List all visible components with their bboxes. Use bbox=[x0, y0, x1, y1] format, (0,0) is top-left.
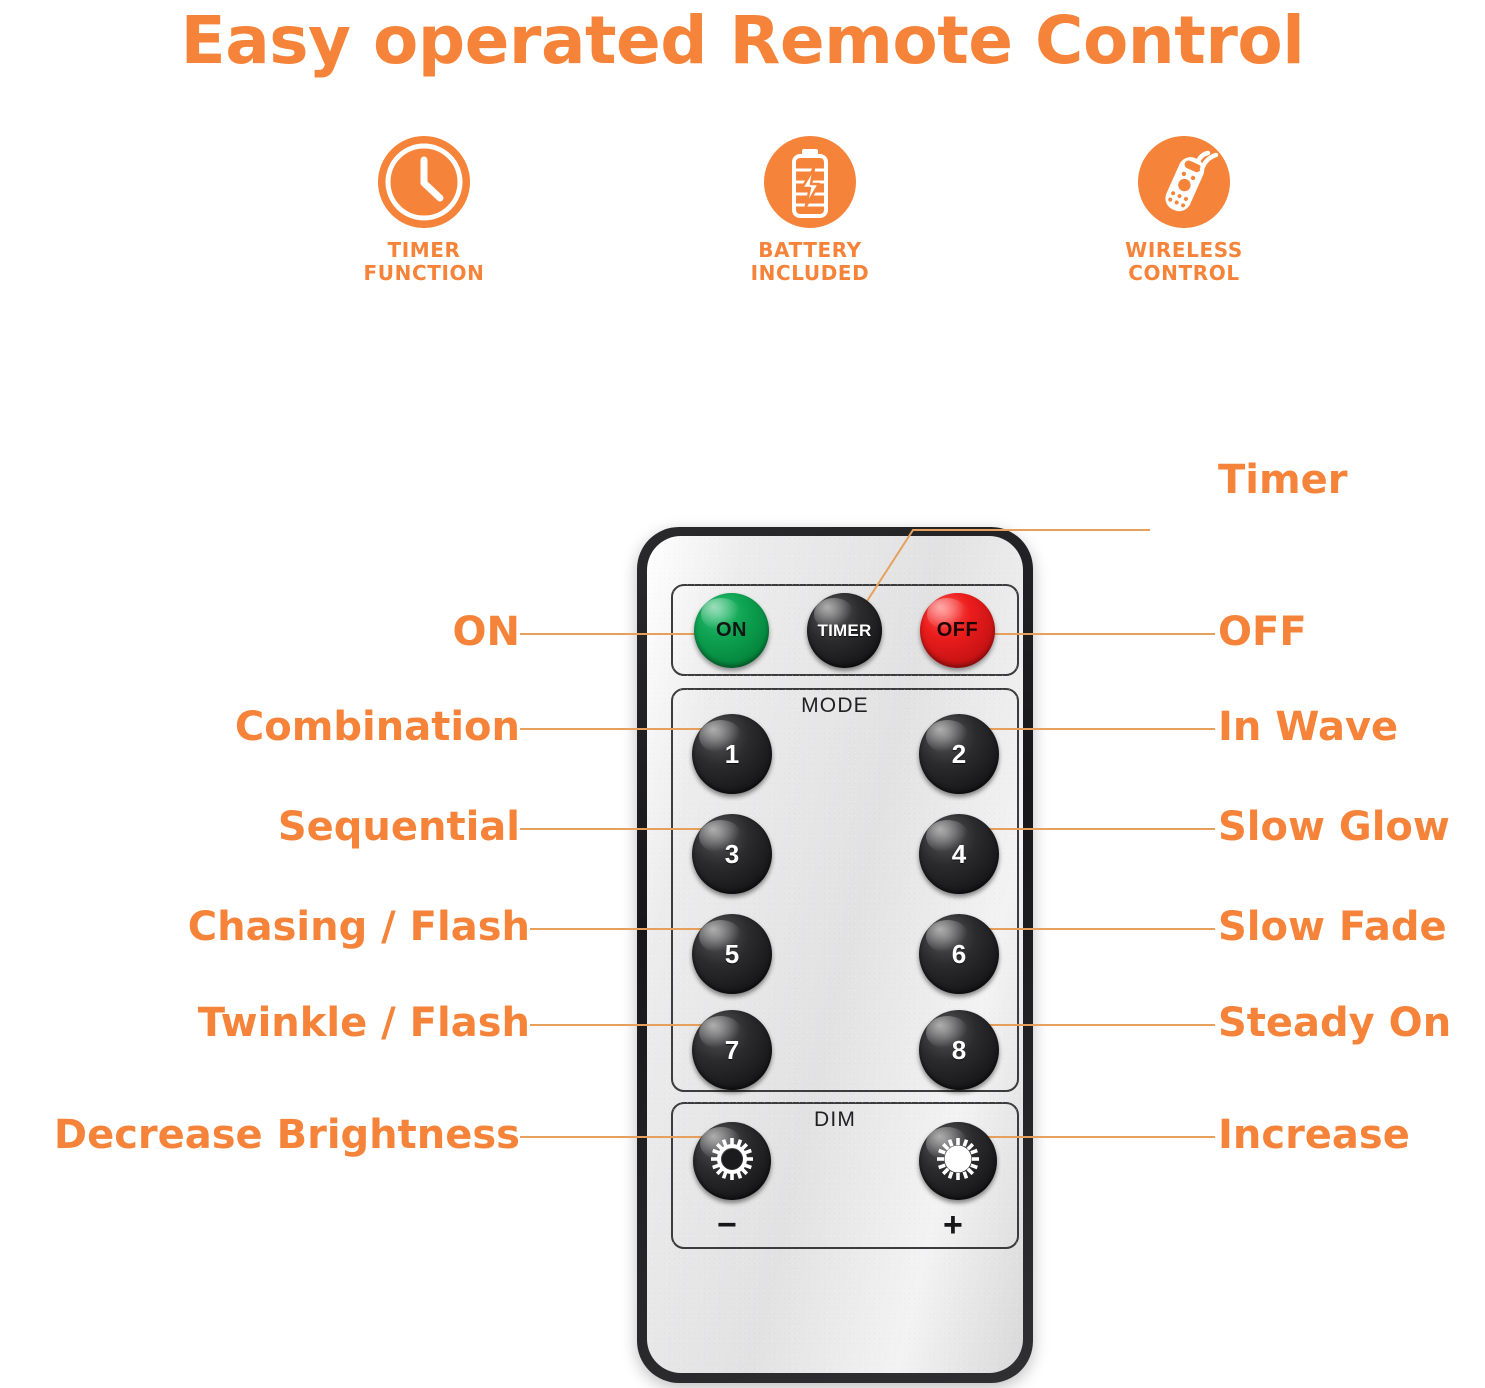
leader-line-twinkle bbox=[530, 1024, 725, 1026]
leader-line-combination bbox=[520, 728, 725, 730]
clock-icon bbox=[378, 136, 470, 228]
callout-twinkle-flash: Twinkle / Flash bbox=[100, 1003, 530, 1043]
callout-on: ON bbox=[120, 612, 520, 652]
feature-caption-line1: TIMER bbox=[304, 239, 544, 262]
off-button[interactable]: OFF bbox=[920, 593, 995, 668]
feature-caption-line1: WIRELESS bbox=[1064, 239, 1304, 262]
dim-decrease-sign: − bbox=[717, 1208, 737, 1242]
mode-button-1[interactable]: 1 bbox=[692, 714, 772, 794]
mode-button-label: 8 bbox=[952, 1035, 966, 1066]
mode-button-4[interactable]: 4 bbox=[919, 814, 999, 894]
callout-decrease-brightness: Decrease Brightness bbox=[10, 1115, 520, 1155]
mode-button-2[interactable]: 2 bbox=[919, 714, 999, 794]
leader-line-decrease bbox=[520, 1136, 725, 1138]
dim-decrease-button[interactable] bbox=[693, 1122, 771, 1200]
leader-line-chasing bbox=[530, 928, 725, 930]
mode-button-7[interactable]: 7 bbox=[692, 1010, 772, 1090]
feature-caption-line1: BATTERY bbox=[690, 239, 930, 262]
feature-caption-line2: CONTROL bbox=[1064, 262, 1304, 285]
mode-button-8[interactable]: 8 bbox=[919, 1010, 999, 1090]
mode-button-3[interactable]: 3 bbox=[692, 814, 772, 894]
mode-button-label: 7 bbox=[725, 1035, 739, 1066]
timer-button-label: TIMER bbox=[818, 621, 872, 641]
callout-timer: Timer bbox=[1218, 460, 1348, 500]
brightness-high-icon bbox=[933, 1134, 983, 1189]
feature-caption: TIMER FUNCTION bbox=[304, 239, 544, 285]
callout-off: OFF bbox=[1218, 612, 1307, 652]
feature-caption: BATTERY INCLUDED bbox=[690, 239, 930, 285]
mode-button-label: 3 bbox=[725, 839, 739, 870]
feature-caption-line2: FUNCTION bbox=[304, 262, 544, 285]
page-title: Easy operated Remote Control bbox=[0, 2, 1485, 79]
feature-badge-row: TIMER FUNCTION BATTERY INCLUDED bbox=[0, 136, 1485, 316]
infographic-canvas: Easy operated Remote Control TIMER FUNCT… bbox=[0, 0, 1485, 1388]
dim-panel-title: DIM bbox=[647, 1108, 1023, 1132]
feature-caption: WIRELESS CONTROL bbox=[1064, 239, 1304, 285]
mode-button-6[interactable]: 6 bbox=[919, 914, 999, 994]
dim-increase-sign: + bbox=[943, 1208, 963, 1242]
feature-wireless-control: WIRELESS CONTROL bbox=[1064, 136, 1304, 285]
callout-slow-glow: Slow Glow bbox=[1218, 807, 1450, 847]
feature-timer-function: TIMER FUNCTION bbox=[304, 136, 544, 285]
remote-signal-icon bbox=[1138, 136, 1230, 228]
on-button[interactable]: ON bbox=[694, 593, 769, 668]
brightness-low-icon bbox=[707, 1134, 757, 1189]
callout-steady-on: Steady On bbox=[1218, 1003, 1451, 1043]
mode-button-label: 1 bbox=[725, 739, 739, 770]
leader-line-off bbox=[960, 633, 1215, 635]
mode-button-label: 4 bbox=[952, 839, 966, 870]
mode-button-5[interactable]: 5 bbox=[692, 914, 772, 994]
callout-increase: Increase bbox=[1218, 1115, 1410, 1155]
leader-line-sequential bbox=[520, 828, 725, 830]
mode-button-label: 2 bbox=[952, 739, 966, 770]
dim-increase-button[interactable] bbox=[919, 1122, 997, 1200]
timer-button[interactable]: TIMER bbox=[807, 593, 882, 668]
callout-chasing-flash: Chasing / Flash bbox=[100, 907, 530, 947]
mode-button-label: 5 bbox=[725, 939, 739, 970]
off-button-label: OFF bbox=[937, 619, 979, 642]
battery-icon bbox=[764, 136, 856, 228]
on-button-label: ON bbox=[716, 619, 747, 642]
mode-button-label: 6 bbox=[952, 939, 966, 970]
callout-combination: Combination bbox=[120, 707, 520, 747]
callout-in-wave: In Wave bbox=[1218, 707, 1398, 747]
callout-slow-fade: Slow Fade bbox=[1218, 907, 1447, 947]
mode-panel-title: MODE bbox=[647, 694, 1023, 718]
feature-caption-line2: INCLUDED bbox=[690, 262, 930, 285]
callout-sequential: Sequential bbox=[120, 807, 520, 847]
remote-control-device: MODE DIM ON TIMER OFF 1 2 3 4 5 bbox=[637, 527, 1033, 1383]
remote-faceplate: MODE DIM ON TIMER OFF 1 2 3 4 5 bbox=[647, 536, 1023, 1373]
feature-battery-included: BATTERY INCLUDED bbox=[690, 136, 930, 285]
